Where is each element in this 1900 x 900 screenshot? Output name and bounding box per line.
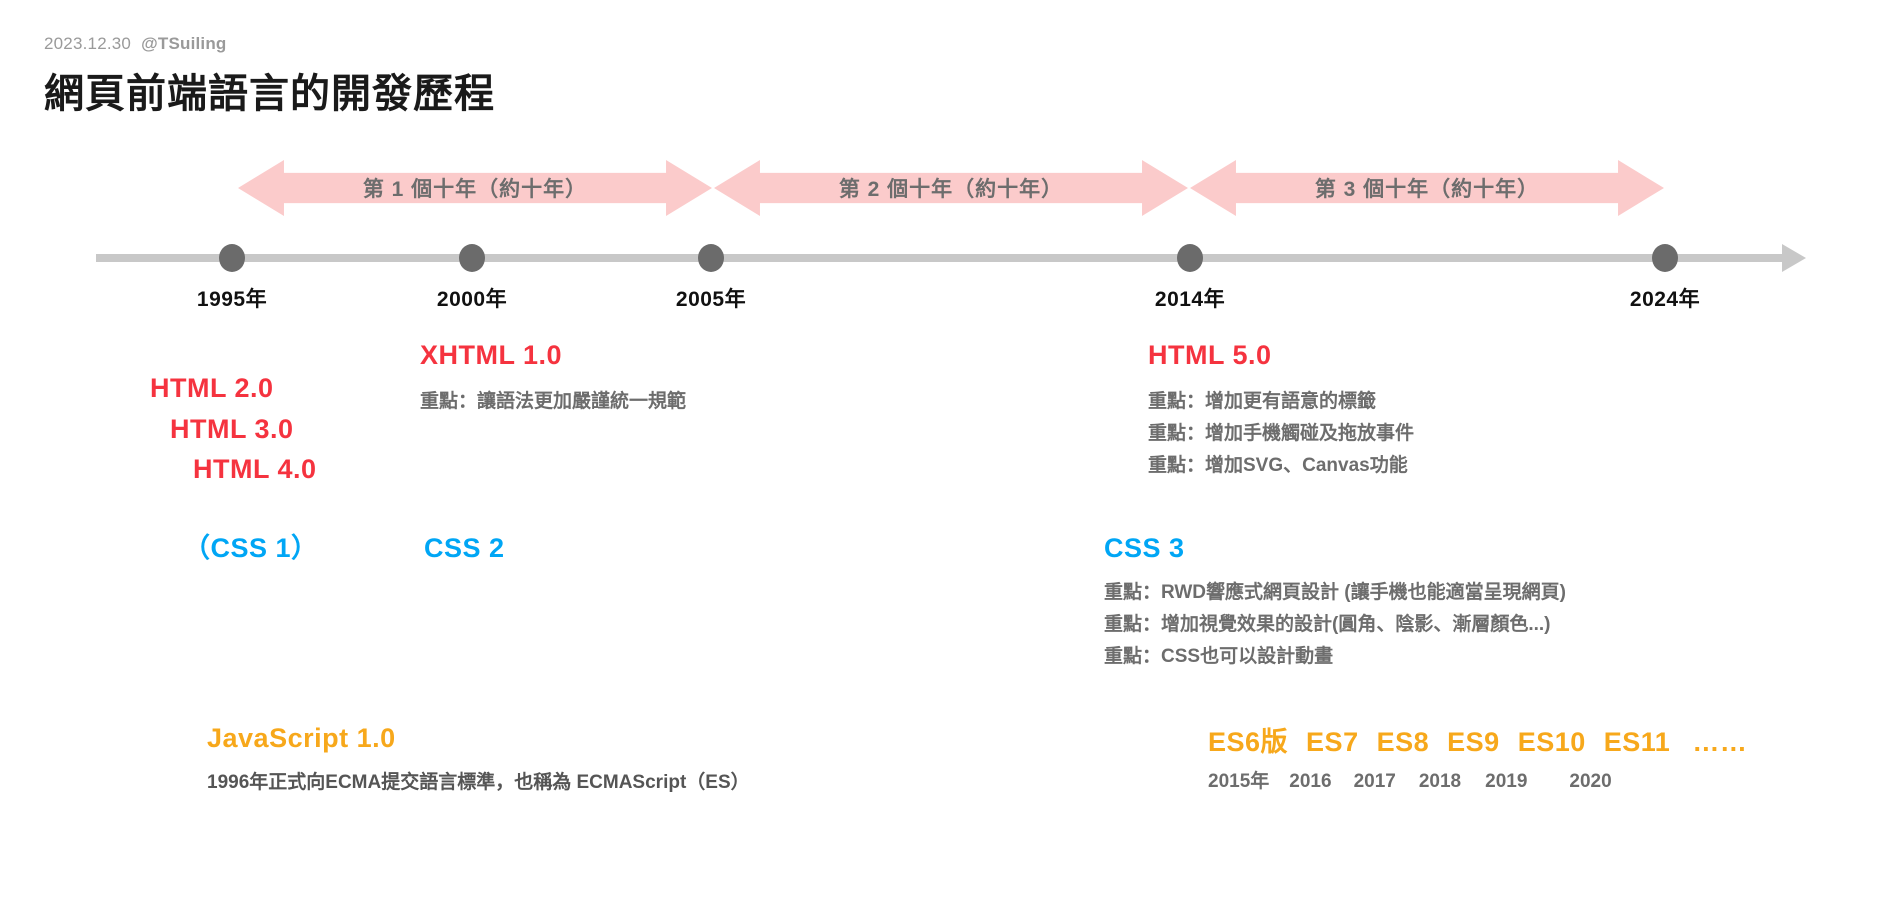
es-year-label: 2018 [1419,771,1461,793]
timeline-dot [1177,244,1203,272]
decade-band-label: 第 2 個十年（約十年） [839,173,1063,203]
css2-title: CSS 2 [424,533,505,565]
timeline-axis-line [96,254,1786,262]
css3-title: CSS 3 [1104,533,1566,565]
xhtml-block: XHTML 1.0 重點：讓語法更加嚴謹統一規範 [420,340,686,418]
css1-title: （CSS 1） [183,533,319,565]
es-year-label: 2015年 [1208,766,1269,793]
es-version-row: ES6版ES7ES8ES9ES10ES11…… [1208,720,1747,759]
decade-band-label: 第 3 個十年（約十年） [1315,173,1539,203]
publish-date: 2023.12.30 [44,34,131,53]
decade-band: 第 3 個十年（約十年） [1190,160,1664,216]
timeline-year-label: 2005年 [676,283,746,313]
timeline-dot [219,244,245,272]
html5-note-list: 重點：增加更有語意的標籤 重點：增加手機觸碰及拖放事件 重點：增加SVG、Can… [1148,386,1414,482]
es-version-label: ES6版 [1208,720,1288,759]
css3-note: 重點：RWD響應式網頁設計 (讓手機也能適當呈現網頁) [1104,577,1566,609]
xhtml-title: XHTML 1.0 [420,340,686,372]
page-header: 2023.12.30@TSuiling 網頁前端語言的開發歷程 [44,34,495,119]
timeline-year-label: 1995年 [197,283,267,313]
html5-note: 重點：增加SVG、Canvas功能 [1148,450,1414,482]
es-version-label: ES7 [1306,727,1359,758]
javascript-title: JavaScript 1.0 [207,723,750,755]
es-version-label: ES8 [1377,727,1430,758]
decade-band: 第 1 個十年（約十年） [238,160,712,216]
css2-block: CSS 2 [424,533,505,565]
html5-title: HTML 5.0 [1148,340,1414,372]
es-year-label: 2017 [1354,771,1396,793]
css3-note: 重點：CSS也可以設計動畫 [1104,641,1566,673]
es-year-label: 2019 [1485,771,1527,793]
timeline-dot [459,244,485,272]
css3-block: CSS 3 重點：RWD響應式網頁設計 (讓手機也能適當呈現網頁) 重點：增加視… [1104,533,1566,673]
es-version-label: ES9 [1447,727,1500,758]
es-version-label: …… [1692,727,1747,758]
css1-block: （CSS 1） [183,533,319,565]
decade-band-label: 第 1 個十年（約十年） [363,173,587,203]
timeline-dot [1652,244,1678,272]
es-year-row: 2015年20162017201820192020 [1208,766,1747,793]
timeline-year-label: 2024年 [1630,283,1700,313]
es-version-label: ES10 [1518,727,1586,758]
es-versions-block: ES6版ES7ES8ES9ES10ES11…… 2015年20162017201… [1208,720,1747,793]
html-version-label: HTML 3.0 [170,409,317,450]
css3-note: 重點：增加視覺效果的設計(圓角、陰影、漸層顏色...) [1104,609,1566,641]
html-version-label: HTML 4.0 [193,449,317,490]
html5-note: 重點：增加手機觸碰及拖放事件 [1148,418,1414,450]
html5-note: 重點：增加更有語意的標籤 [1148,386,1414,418]
es-year-label: 2016 [1289,771,1331,793]
css3-note-list: 重點：RWD響應式網頁設計 (讓手機也能適當呈現網頁) 重點：增加視覺效果的設計… [1104,577,1566,673]
author-handle: @TSuiling [141,34,226,53]
es-version-label: ES11 [1604,727,1671,758]
timeline-dot [698,244,724,272]
xhtml-note: 重點：讓語法更加嚴謹統一規範 [420,386,686,418]
meta-line: 2023.12.30@TSuiling [44,34,495,54]
html-early-versions-block: HTML 2.0 HTML 3.0 HTML 4.0 [150,368,317,490]
timeline-year-label: 2014年 [1155,283,1225,313]
es-year-label: 2020 [1569,771,1611,793]
javascript-block: JavaScript 1.0 1996年正式向ECMA提交語言標準，也稱為 EC… [207,723,750,799]
page-title: 網頁前端語言的開發歷程 [44,61,495,119]
timeline-arrow-icon [1782,244,1806,272]
html5-block: HTML 5.0 重點：增加更有語意的標籤 重點：增加手機觸碰及拖放事件 重點：… [1148,340,1414,482]
decade-band: 第 2 個十年（約十年） [714,160,1188,216]
html-version-label: HTML 2.0 [150,368,317,409]
timeline-year-label: 2000年 [437,283,507,313]
javascript-note: 1996年正式向ECMA提交語言標準，也稱為 ECMAScript（ES） [207,767,750,799]
